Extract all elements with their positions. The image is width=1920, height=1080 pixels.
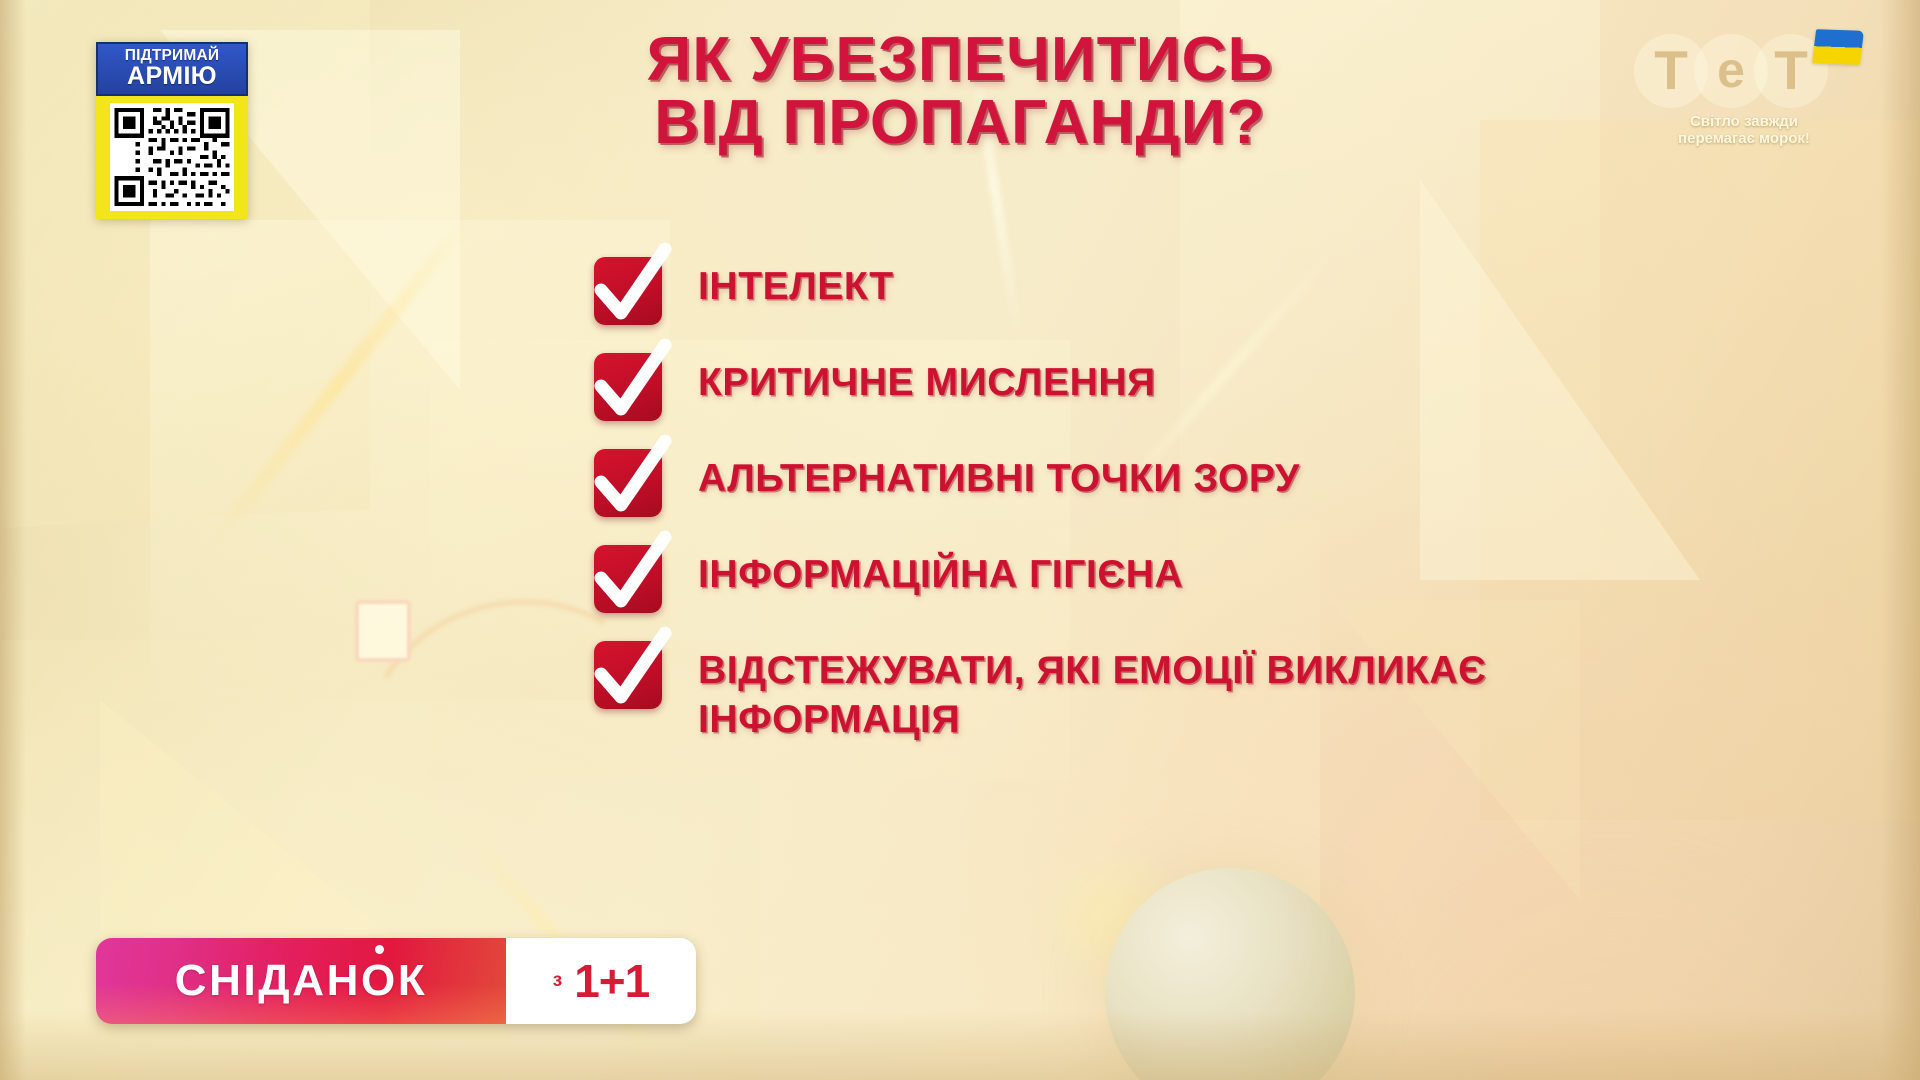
checkmark-icon — [591, 339, 675, 427]
qr-code-frame — [96, 96, 248, 219]
qr-code-icon[interactable] — [110, 103, 234, 211]
channel-1plus1-logo: 1+1 — [574, 954, 649, 1008]
checkbox-checked[interactable] — [594, 641, 662, 709]
broadcast-graphic: ПІДТРИМАЙ АРМІЮ — [0, 0, 1920, 1080]
checklist-item-text-3: АЛЬТЕРНАТИВНІ ТОЧКИ ЗОРУ — [698, 457, 1300, 500]
background-vignette — [0, 0, 26, 1080]
background-sphere — [1105, 868, 1355, 1080]
show-name-part2: К — [398, 956, 427, 1005]
show-name-part1: СНІДАН — [175, 956, 361, 1005]
list-item: ІНФОРМАЦІЙНА ГІГІЄНА — [594, 543, 1814, 613]
tet-tagline-line1: Світло завжди — [1628, 113, 1860, 130]
brand-connector: з — [553, 970, 562, 992]
show-name: СНІДАНОК — [175, 956, 428, 1006]
checkbox-checked[interactable] — [594, 545, 662, 613]
checklist-item-text-1: ІНТЕЛЕКТ — [698, 265, 894, 308]
checklist-item-text-4: ІНФОРМАЦІЙНА ГІГІЄНА — [698, 553, 1183, 596]
checklist-item-text-5: ВІДСТЕЖУВАТИ, ЯКІ ЕМОЦІЇ ВИКЛИКАЄ — [698, 649, 1486, 692]
list-item: АЛЬТЕРНАТИВНІ ТОЧКИ ЗОРУ — [594, 447, 1814, 517]
checkmark-icon — [591, 435, 675, 523]
show-name-panel: СНІДАНОК — [96, 938, 506, 1024]
checkmark-icon — [591, 531, 675, 619]
list-item: ВІДСТЕЖУВАТИ, ЯКІ ЕМОЦІЇ ВИКЛИКАЄ ІНФОРМ… — [594, 639, 1814, 745]
show-name-ring-letter: О — [361, 956, 398, 1006]
background-vignette — [1880, 0, 1920, 1080]
support-army-banner: ПІДТРИМАЙ АРМІЮ — [96, 42, 248, 96]
checklist-item-label: АЛЬТЕРНАТИВНІ ТОЧКИ ЗОРУ — [698, 447, 1300, 504]
checklist-item-text-5-line2: ІНФОРМАЦІЯ — [698, 696, 1486, 745]
background-glow — [1330, 840, 1890, 1080]
background-glow — [1040, 845, 1190, 995]
checklist-item-label: ІНТЕЛЕКТ — [698, 255, 894, 312]
checklist-item-label: КРИТИЧНЕ МИСЛЕННЯ — [698, 351, 1156, 408]
checkbox-checked[interactable] — [594, 449, 662, 517]
checklist: ІНТЕЛЕКТ КРИТИЧНЕ МИСЛЕННЯ АЛЬТЕРНАТИВНІ… — [594, 255, 1814, 771]
tet-tagline-line2: перемагає морок! — [1628, 130, 1860, 147]
background-square — [355, 600, 411, 662]
channel-panel: з 1+1 — [506, 938, 696, 1024]
tet-channel-logo: T e T Світло завжди перемагає морок! — [1628, 34, 1860, 148]
checklist-item-label: ІНФОРМАЦІЙНА ГІГІЄНА — [698, 543, 1183, 600]
checkbox-checked[interactable] — [594, 257, 662, 325]
tet-tagline: Світло завжди перемагає морок! — [1628, 113, 1860, 148]
support-army-badge[interactable]: ПІДТРИМАЙ АРМІЮ — [96, 42, 248, 219]
tet-logomark: T e T — [1628, 34, 1860, 108]
checkmark-icon — [591, 627, 675, 715]
background-light-streak — [199, 211, 475, 558]
list-item: ІНТЕЛЕКТ — [594, 255, 1814, 325]
support-army-line2: АРМІЮ — [102, 64, 242, 89]
checkmark-icon — [591, 243, 675, 331]
checklist-item-text-2: КРИТИЧНЕ МИСЛЕННЯ — [698, 361, 1156, 404]
checkbox-checked[interactable] — [594, 353, 662, 421]
ukraine-flag-icon — [1812, 29, 1864, 65]
checklist-item-label: ВІДСТЕЖУВАТИ, ЯКІ ЕМОЦІЇ ВИКЛИКАЄ ІНФОРМ… — [698, 639, 1486, 745]
list-item: КРИТИЧНЕ МИСЛЕННЯ — [594, 351, 1814, 421]
show-brand-bar: СНІДАНОК з 1+1 — [96, 938, 696, 1024]
